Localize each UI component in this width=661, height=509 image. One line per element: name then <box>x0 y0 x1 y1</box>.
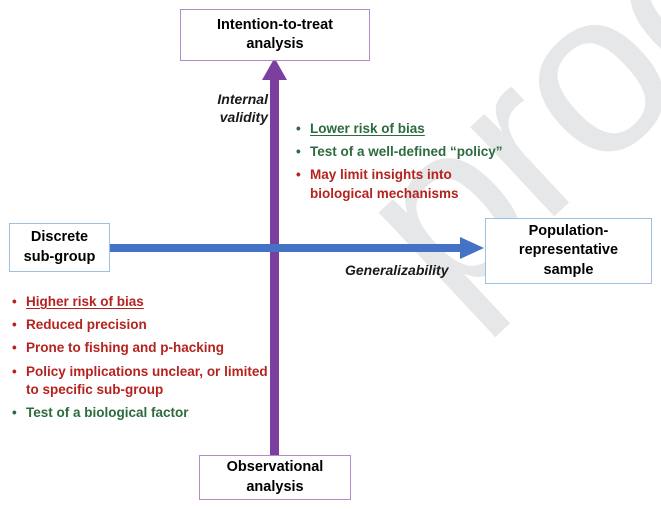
list-item: • Higher risk of bias <box>12 293 282 311</box>
bullet-dot-icon: • <box>296 166 310 184</box>
bullet-text: Policy implications unclear, or limited … <box>26 363 282 399</box>
axis-label-internal-line-2: validity <box>200 108 268 126</box>
bullet-list-top-right: • Lower risk of bias • Test of a well-de… <box>296 120 511 208</box>
node-population-line-1: Population- <box>519 222 618 241</box>
node-discrete-line-1: Discrete <box>24 228 96 247</box>
bullet-dot-icon: • <box>12 316 26 334</box>
bullet-text: Reduced precision <box>26 316 282 334</box>
node-population-representative-sample[interactable]: Population- representative sample <box>485 218 652 284</box>
bullet-list-lower-left: • Higher risk of bias • Reduced precisio… <box>12 293 282 427</box>
list-item: • Test of a biological factor <box>12 404 282 422</box>
node-obs-line-1: Observational <box>227 458 324 477</box>
node-intention-to-treat[interactable]: Intention-to-treat analysis <box>180 9 370 61</box>
bullet-dot-icon: • <box>296 120 310 138</box>
bullet-dot-icon: • <box>12 293 26 311</box>
node-discrete-subgroup[interactable]: Discrete sub-group <box>9 223 110 272</box>
list-item: • Reduced precision <box>12 316 282 334</box>
node-itt-line-1: Intention-to-treat <box>217 16 333 35</box>
list-item: • Policy implications unclear, or limite… <box>12 363 282 399</box>
bullet-text: May limit insights into biological mecha… <box>310 166 511 202</box>
bullet-text: Lower risk of bias <box>310 120 511 138</box>
list-item: • Test of a well-defined “policy” <box>296 143 511 161</box>
horizontal-axis-arrow <box>110 237 484 259</box>
diagram-canvas: proof Intention-to-treat analysis Observ… <box>0 0 661 509</box>
node-discrete-line-2: sub-group <box>24 248 96 267</box>
node-population-line-3: sample <box>519 261 618 280</box>
bullet-dot-icon: • <box>12 339 26 357</box>
bullet-text: Prone to fishing and p-hacking <box>26 339 282 357</box>
axis-label-internal-line-1: Internal <box>200 90 268 108</box>
node-obs-line-2: analysis <box>227 478 324 497</box>
axis-label-generalizability: Generalizability <box>345 261 448 279</box>
bullet-dot-icon: • <box>12 363 26 381</box>
node-itt-line-2: analysis <box>217 35 333 54</box>
bullet-text: Test of a well-defined “policy” <box>310 143 511 161</box>
bullet-dot-icon: • <box>12 404 26 422</box>
node-population-line-2: representative <box>519 241 618 260</box>
bullet-text: Higher risk of bias <box>26 293 282 311</box>
list-item: • Lower risk of bias <box>296 120 511 138</box>
bullet-text: Test of a biological factor <box>26 404 282 422</box>
node-observational-analysis[interactable]: Observational analysis <box>199 455 351 500</box>
axis-label-internal-validity: Internal validity <box>200 90 268 126</box>
bullet-dot-icon: • <box>296 143 310 161</box>
list-item: • Prone to fishing and p-hacking <box>12 339 282 357</box>
list-item: • May limit insights into biological mec… <box>296 166 511 202</box>
